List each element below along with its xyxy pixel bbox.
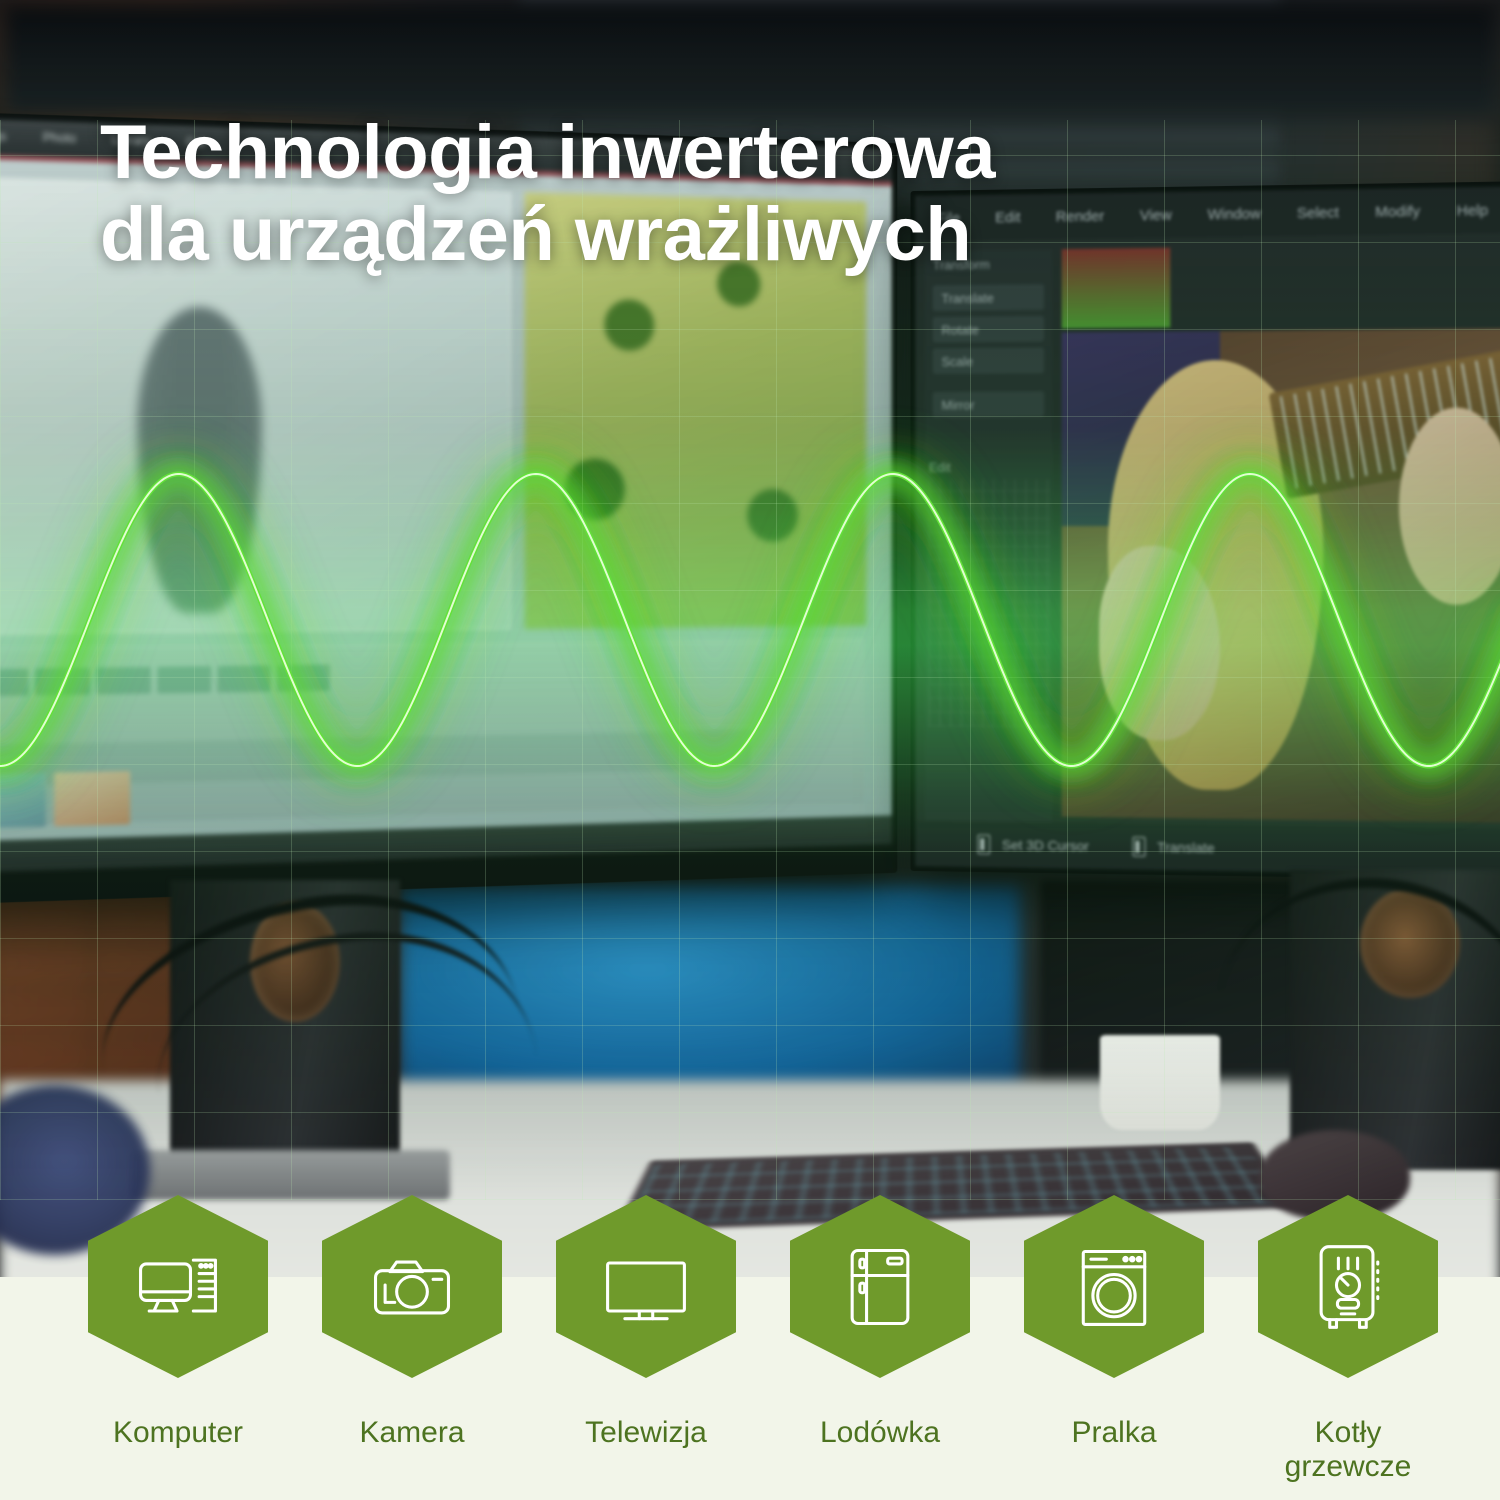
badge-komputer[interactable]: Komputer	[88, 1195, 268, 1450]
badge-label-line-2: grzewcze	[1285, 1450, 1412, 1483]
hex-shape	[790, 1195, 970, 1378]
badge-lodowka[interactable]: Lodówka	[790, 1195, 970, 1450]
hex-shape	[322, 1195, 502, 1378]
boiler-icon	[1300, 1239, 1396, 1335]
headline-line-2: dla urządzeń wrażliwych	[100, 194, 1280, 276]
desktop-computer-icon	[130, 1239, 226, 1335]
hex-shape	[1258, 1195, 1438, 1378]
headline-line-1: Technologia inwerterowa	[100, 110, 995, 195]
hex-shape	[1024, 1195, 1204, 1378]
washing-machine-icon	[1066, 1239, 1162, 1335]
badge-label: Komputer	[88, 1416, 268, 1450]
hex-shape	[88, 1195, 268, 1378]
badge-label: Pralka	[1024, 1416, 1204, 1450]
badge-label: Lodówka	[790, 1416, 970, 1450]
category-badge-row: Komputer Kamera	[0, 1195, 1500, 1500]
television-icon	[598, 1239, 694, 1335]
page-title: Technologia inwerterowa dla urządzeń wra…	[100, 112, 1280, 276]
badge-telewizja[interactable]: Telewizja	[556, 1195, 736, 1450]
camera-icon	[364, 1239, 460, 1335]
badge-label: Kamera	[322, 1416, 502, 1450]
badge-label-line-1: Kotły	[1315, 1416, 1382, 1449]
badge-label: Kotły grzewcze	[1258, 1416, 1438, 1483]
badge-kamera[interactable]: Kamera	[322, 1195, 502, 1450]
badge-pralka[interactable]: Pralka	[1024, 1195, 1204, 1450]
badge-label: Telewizja	[556, 1416, 736, 1450]
poster-canvas: Settings Photo Library Gal	[0, 0, 1500, 1500]
hex-shape	[556, 1195, 736, 1378]
badge-kotly-grzewcze[interactable]: Kotły grzewcze	[1258, 1195, 1438, 1483]
refrigerator-icon	[832, 1239, 928, 1335]
